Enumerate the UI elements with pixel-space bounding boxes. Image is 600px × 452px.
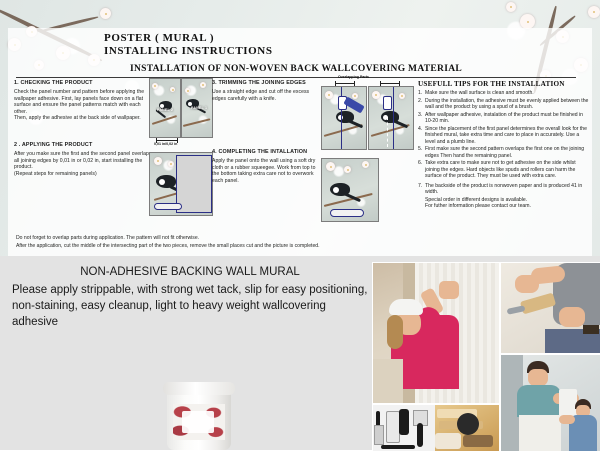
tip-text: First make sure the second pattern overl… [425,146,590,159]
tip-text: Make sure the wall surface is clean and … [425,90,590,97]
hand [439,281,459,299]
overlap-measure-label: 0,01 in/0,02 in [154,142,177,146]
scraper-blade-icon [374,425,384,445]
tip-number: 4. [418,126,425,146]
cap [389,299,423,315]
page-title: POSTER ( MURAL ) [104,32,592,45]
page-subtitle: INSTALLING INSTRUCTIONS [104,45,592,58]
step-1-heading: 1. CHECKING THE PRODUCT [14,80,150,87]
step-2: 2 . APPLYING THE PRODUCT After you make … [14,142,150,177]
hand [515,275,539,293]
column-right-tips: USEFULL TIPS FOR THE INSTALLATION 1. Mak… [418,80,590,210]
figure-applying-product [149,152,213,216]
figure-trimming-right [368,86,414,150]
material-subtitle: INSTALLATION OF NON-WOVEN BACK WALLCOVER… [16,62,576,78]
step-4-body: Apply the panel onto the wall using a so… [212,158,316,184]
column-middle: 3. TRIMMING THE JOINING EDGES Use a stra… [212,80,316,188]
figure-panel-1: PANEL 1 [181,78,213,138]
step-4-heading: 4. COMPLETING THE INTALLATION [212,149,316,156]
tip-number: 6. [418,160,425,180]
paint-can-icon [457,413,479,435]
product-heading: NON-ADHESIVE BACKING WALL MURAL [12,266,368,278]
tip-number: 7. [418,183,425,196]
step-4: 4. COMPLETING THE INTALLATION Apply the … [212,149,316,184]
face [528,369,548,386]
overlapping-parts-label: Overlapping Parts [338,75,369,79]
figure-panel-2: PANEL 2 [149,78,181,138]
overlap-arrow-left [335,83,355,84]
squeegee-icon [154,203,182,210]
tip-text: During the installation, the adhesive mu… [425,98,590,111]
tips-extra-line: For futher information please contact ou… [425,203,590,210]
belt [583,325,599,334]
overlap-measure-arrow [156,140,178,141]
footnotes: Do not forget to overlap parts during ap… [16,234,582,250]
footnote-2: After the application, cut the middle of… [16,242,582,250]
step-2-body: After you make sure the first and the se… [14,151,150,177]
step-3-heading: 3. TRIMMING THE JOINING EDGES [212,80,316,87]
bucket-label [173,404,225,440]
tip-text: Take extra care to make sure not to get … [425,160,590,180]
tip-number: 2. [418,98,425,111]
step-3-body: Use a straight edge and cut off the exce… [212,89,316,102]
tip-text: The backside of the product is nonwoven … [425,183,590,196]
dashed-guide-line [387,117,388,147]
screenshot-root: POSTER ( MURAL ) INSTALLING INSTRUCTIONS… [0,0,600,450]
smoother-icon [399,409,409,435]
overlap-arrow-right [380,83,400,84]
panel-1-label: PANEL 1 [191,106,207,110]
product-description: Please apply strippable, with strong wet… [12,282,368,330]
forearm [559,415,575,424]
tip-item: 4. Since the placement of the first pane… [418,126,590,146]
blossom-icon [100,8,111,19]
tip-number: 1. [418,90,425,97]
tip-item: 7. The backside of the product is nonwov… [418,183,590,196]
step-1-body: Check the panel number and pattern befor… [14,89,150,122]
title-block: POSTER ( MURAL ) INSTALLING INSTRUCTIONS [8,28,592,58]
putty-knife-handle-icon [417,423,423,447]
photo-man-and-child [500,354,600,452]
column-left: 1. CHECKING THE PRODUCT Check the panel … [14,80,150,180]
squeegee-icon [330,209,364,217]
tip-text: After wallpaper adhesive, instalation of… [425,112,590,125]
straight-edge-icon [383,96,392,110]
smoothing-blade-icon [386,411,400,443]
panel-2-label: PANEL 2 [157,108,173,112]
tip-item: 2. During the installation, the adhesive… [418,98,590,111]
photo-woman-smoothing-wallpaper [372,262,500,404]
instruction-columns: 1. CHECKING THE PRODUCT Check the panel … [8,80,592,230]
instructions-panel: POSTER ( MURAL ) INSTALLING INSTRUCTIONS… [8,28,592,256]
step-3: 3. TRIMMING THE JOINING EDGES Use a stra… [212,80,316,102]
hair [387,315,403,349]
photo-tools-and-rolls [372,404,500,452]
tip-text: Since the placement of the first panel d… [425,126,590,146]
wallpaper-roll [559,389,577,417]
pants [519,415,561,451]
tip-item: 1. Make sure the wall surface is clean a… [418,90,590,97]
hand [559,307,585,327]
tip-item: 5. First make sure the second pattern ov… [418,146,590,159]
photo-collage [372,262,600,450]
blossom-icon [506,2,516,12]
tip-number: 5. [418,146,425,159]
figure-trimming-left [321,86,367,150]
cut-line [393,87,394,149]
tips-heading: USEFULL TIPS FOR THE INSTALLATION [418,80,590,88]
step-1: 1. CHECKING THE PRODUCT Check the panel … [14,80,150,122]
tip-number: 3. [418,112,425,125]
footnote-1: Do not forget to overlap parts during ap… [16,234,582,242]
photo-hands-rolling-seam [500,262,600,354]
adhesive-bucket-image [163,378,235,450]
tip-item: 3. After wallpaper adhesive, instalation… [418,112,590,125]
blossom-icon [588,6,600,18]
instruction-sheet: POSTER ( MURAL ) INSTALLING INSTRUCTIONS… [0,0,600,256]
knife-icon [381,445,415,449]
step-2-heading: 2 . APPLYING THE PRODUCT [14,142,150,149]
figure-completing-installation [321,158,379,222]
tip-item: 6. Take extra care to make sure not to g… [418,160,590,180]
blossom-icon [520,14,535,29]
product-text-block: NON-ADHESIVE BACKING WALL MURAL Please a… [12,266,368,330]
